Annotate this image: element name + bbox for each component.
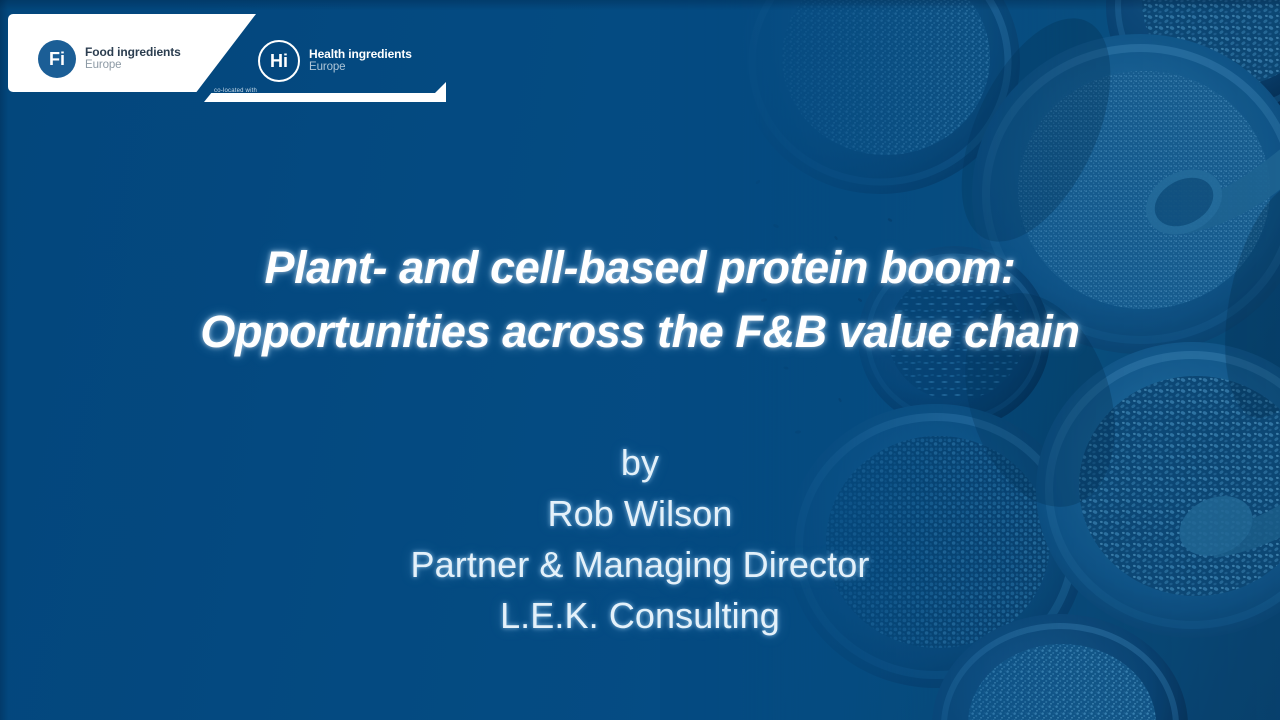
presenter-company: L.E.K. Consulting — [0, 590, 1280, 641]
hi-wordmark-line2: Europe — [309, 61, 412, 74]
presentation-title-slide: co-located with Fi Food ingredients Euro… — [0, 0, 1280, 720]
presenter-name: Rob Wilson — [0, 488, 1280, 539]
fi-circle-icon: Fi — [38, 40, 76, 78]
banner-white-rule — [204, 93, 446, 102]
presenter-byline: by — [0, 437, 1280, 488]
presenter-block: by Rob Wilson Partner & Managing Directo… — [0, 437, 1280, 641]
co-located-label: co-located with — [214, 88, 257, 94]
fi-wordmark-line2: Europe — [85, 59, 181, 72]
brand-lockup-health-ingredients[interactable]: Hi Health ingredients Europe — [258, 40, 412, 82]
slide-title-line-2: Opportunities across the F&B value chain — [0, 300, 1280, 364]
brand-lockup-food-ingredients[interactable]: Fi Food ingredients Europe — [38, 40, 181, 78]
fi-wordmark: Food ingredients Europe — [85, 46, 181, 72]
hi-wordmark-line1: Health ingredients — [309, 48, 412, 61]
hi-wordmark: Health ingredients Europe — [309, 48, 412, 74]
slide-title-line-1: Plant- and cell-based protein boom: — [0, 236, 1280, 300]
presenter-title: Partner & Managing Director — [0, 539, 1280, 590]
slide-title: Plant- and cell-based protein boom: Oppo… — [0, 236, 1280, 364]
fi-wordmark-line1: Food ingredients — [85, 46, 181, 59]
hi-circle-icon: Hi — [258, 40, 300, 82]
event-logo-banner: co-located with Fi Food ingredients Euro… — [8, 14, 446, 106]
banner-corner-wedge — [426, 82, 446, 102]
